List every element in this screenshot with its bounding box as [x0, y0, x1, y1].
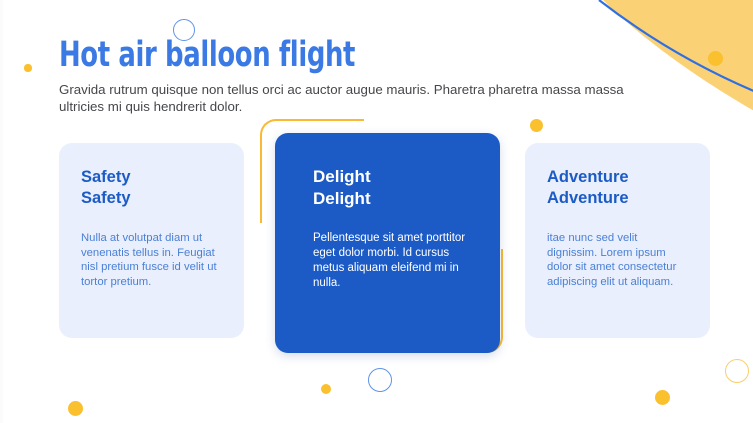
page-title: Hot air balloon flight: [59, 36, 510, 74]
card-safety-body: Nulla at volutpat diam ut venenatis tell…: [81, 231, 222, 289]
ring-bottom-right: [725, 359, 749, 383]
card-safety-heading: Safety Safety: [81, 167, 222, 209]
card-delight-heading: Delight Delight: [313, 166, 470, 210]
dot-bottom-left: [68, 401, 83, 416]
slide-canvas: Hot air balloon flight Gravida rutrum qu…: [0, 0, 753, 423]
header: Hot air balloon flight Gravida rutrum qu…: [59, 36, 669, 115]
dot-above-card3: [530, 119, 543, 132]
ring-bottom-center: [368, 368, 392, 392]
card-adventure-body: itae nunc sed velit dignissim. Lorem ips…: [547, 231, 688, 289]
card-delight-body: Pellentesque sit amet porttitor eget dol…: [313, 231, 470, 291]
dot-title-left: [24, 64, 31, 71]
dot-bottom-right: [655, 390, 670, 405]
card-adventure-heading: Adventure Adventure: [547, 167, 688, 209]
page-subtitle: Gravida rutrum quisque non tellus orci a…: [59, 81, 651, 115]
card-delight[interactable]: Delight Delight Pellentesque sit amet po…: [275, 133, 500, 353]
card-safety[interactable]: Safety Safety Nulla at volutpat diam ut …: [59, 143, 244, 338]
dot-arc: [708, 51, 723, 66]
card-adventure[interactable]: Adventure Adventure itae nunc sed velit …: [525, 143, 710, 338]
